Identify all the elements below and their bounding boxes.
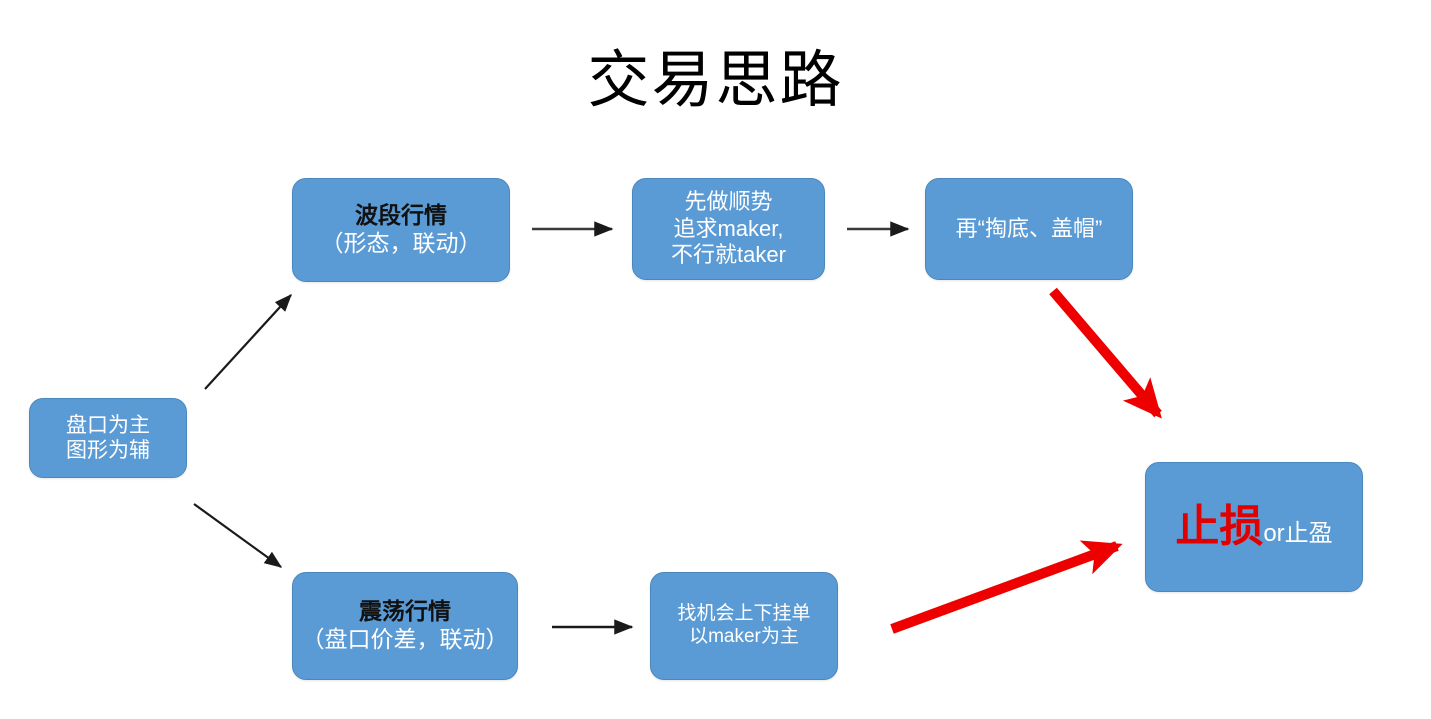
take-profit-label: or止盈 [1263,520,1332,549]
arrow-start-to-range [194,504,281,567]
node-trend-line2: 追求maker, [673,216,783,242]
node-range-title: 震荡行情 [359,598,451,626]
diagram-canvas: 交易思路 [0,0,1431,719]
node-range-market[interactable]: 震荡行情 （盘口价差，联动） [292,572,518,680]
node-start-line2: 图形为辅 [66,438,150,463]
node-dig-line1: 再“掏底、盖帽” [956,216,1103,242]
node-place-orders[interactable]: 找机会上下挂单 以maker为主 [650,572,838,680]
node-orders-line2: 以maker为主 [689,626,799,649]
node-start[interactable]: 盘口为主 图形为辅 [29,398,187,478]
node-start-line1: 盘口为主 [66,413,150,438]
node-orders-line1: 找机会上下挂单 [677,603,810,626]
node-trend-line1: 先做顺势 [684,189,772,215]
stop-loss-label: 止损 [1175,501,1263,554]
page-title: 交易思路 [0,44,1431,118]
node-swing-subtitle: （形态，联动） [321,230,482,258]
node-trend-line3: 不行就taker [671,242,786,268]
node-stop-loss-take-profit[interactable]: 止损 or止盈 [1145,462,1363,592]
node-dig-bottom-cap-top[interactable]: 再“掏底、盖帽” [925,178,1133,280]
node-follow-trend[interactable]: 先做顺势 追求maker, 不行就taker [632,178,825,280]
stop-row: 止损 or止盈 [1175,501,1332,554]
arrow-orders-to-stop [892,546,1117,629]
arrow-dig-to-stop [1053,291,1158,414]
node-swing-market[interactable]: 波段行情 （形态，联动） [292,178,510,282]
node-swing-title: 波段行情 [355,202,447,230]
arrow-start-to-swing [205,295,291,389]
node-range-subtitle: （盘口价差，联动） [302,626,509,654]
